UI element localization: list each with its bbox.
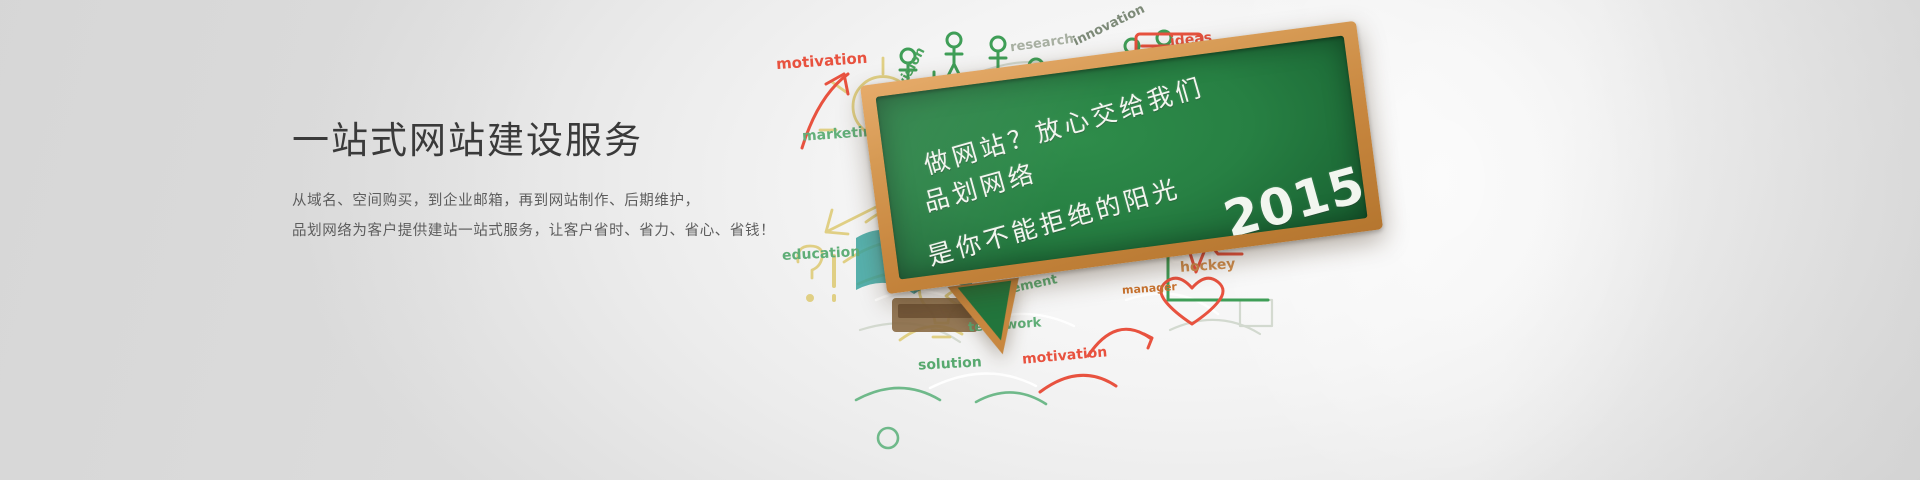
chalk-year: 2015 <box>1218 155 1368 249</box>
subtitle-line-2: 品划网络为客户提供建站一站式服务，让客户省时、省力、省心、省钱！ <box>292 216 852 246</box>
banner-subtitle: 从域名、空间购买，到企业邮箱，再到网站制作、后期维护， 品划网络为客户提供建站一… <box>292 186 852 246</box>
chalk-text-line-1: 做网站？放心交给我们 <box>919 67 1208 182</box>
subtitle-line-1: 从域名、空间购买，到企业邮箱，再到网站制作、后期维护， <box>292 186 852 216</box>
hero-banner: motivation vision research innovation id… <box>0 0 1920 480</box>
page-title: 一站式网站建设服务 <box>292 118 852 164</box>
banner-copy: 一站式网站建设服务 从域名、空间购买，到企业邮箱，再到网站制作、后期维护， 品划… <box>292 118 852 246</box>
chalkboard-speech-bubble: 做网站？放心交给我们 品划网络 是你不能拒绝的阳光 2015 <box>860 86 1380 376</box>
speech-bubble-tail <box>947 278 1028 361</box>
